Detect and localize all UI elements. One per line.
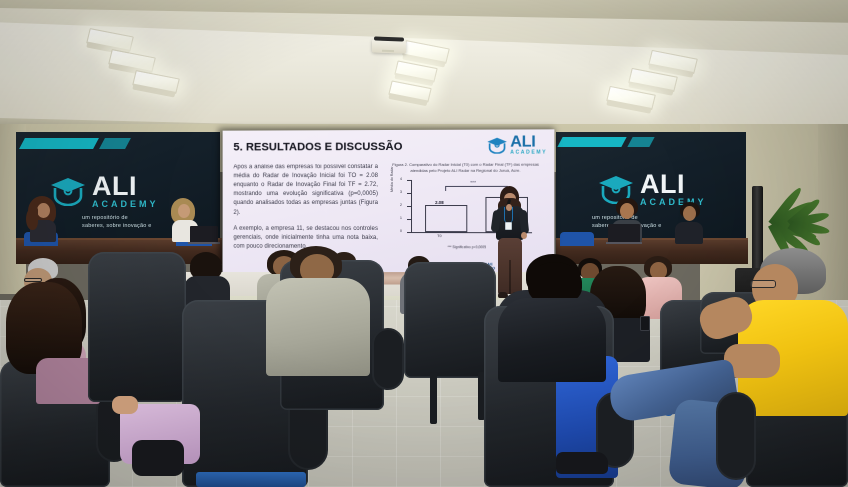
chart-significance-stars: *** bbox=[470, 180, 476, 185]
banner-accent-stripe-2 bbox=[99, 138, 131, 149]
figure-caption: Figura 2. Comparativo do Radar Inicial (… bbox=[391, 162, 540, 174]
laptop-left bbox=[190, 226, 218, 242]
chair-leg bbox=[430, 372, 437, 424]
slide-title: 5. RESULTADOS E DISCUSSÃO bbox=[233, 141, 402, 153]
slide-body-text: Após a análise das empresas foi possível… bbox=[233, 163, 378, 252]
banner-logo-secondary: ACADEMY bbox=[92, 200, 159, 208]
laptop-right bbox=[608, 224, 640, 242]
slide-logo-primary: ALI bbox=[510, 135, 547, 149]
name-badge bbox=[505, 222, 512, 230]
chart-bar-t0 bbox=[425, 205, 467, 232]
banner-accent-stripe-2 bbox=[627, 137, 654, 147]
chart-xtick-t0: T0 bbox=[437, 234, 441, 238]
panelist-left-1 bbox=[26, 196, 62, 242]
banner-accent-stripe bbox=[19, 138, 99, 149]
chair-row2-left[interactable] bbox=[88, 252, 186, 402]
chart-ytick-2: 2 bbox=[400, 204, 402, 207]
banner-tagline-line1: um repositório de bbox=[82, 215, 128, 221]
attendee-grey-polo-front bbox=[256, 246, 376, 376]
chair-seat bbox=[196, 472, 306, 487]
conference-room-photo: ALI ACADEMY um repositório de saberes, s… bbox=[0, 0, 848, 487]
slide-logo-secondary: ACADEMY bbox=[510, 149, 547, 155]
slide-paragraph-1: Após a análise das empresas foi possível… bbox=[233, 163, 378, 218]
chart-ytick-1: 1 bbox=[400, 217, 402, 220]
banner-accent-stripe bbox=[557, 137, 626, 147]
ceiling-projector bbox=[372, 39, 406, 53]
panelist-right-2 bbox=[672, 202, 708, 244]
chart-y-axis-label: Média do Radar bbox=[390, 166, 394, 192]
chart-y-axis bbox=[411, 180, 412, 232]
attendee-sneaker bbox=[556, 452, 608, 474]
head-table-chair bbox=[560, 232, 594, 246]
chart-ytick-3: 3 bbox=[400, 191, 402, 194]
handbag bbox=[132, 440, 184, 476]
banner-logo-primary: ALI bbox=[640, 169, 685, 199]
banner-logo-primary: ALI bbox=[92, 171, 137, 201]
slide-logo: ALI ACADEMY bbox=[485, 135, 547, 155]
chart-ytick-0: 0 bbox=[400, 230, 402, 233]
smartphone-icon[interactable] bbox=[640, 316, 650, 331]
chair-armrest bbox=[372, 328, 404, 390]
attendee-hand bbox=[112, 396, 138, 414]
chart-ytick-4: 4 bbox=[400, 178, 402, 181]
banner-tagline-line2: saberes, sobre inovação e bbox=[82, 223, 152, 229]
graduation-cap-icon bbox=[485, 137, 508, 154]
chart-bar-label-t0: 2.08 bbox=[435, 200, 444, 205]
chair-row2-right[interactable] bbox=[404, 262, 496, 378]
attendee-black-polo-front-body bbox=[498, 262, 608, 382]
banner-logo: ALI ACADEMY bbox=[48, 174, 159, 208]
chair-armrest bbox=[716, 392, 756, 480]
eyeglasses-icon bbox=[750, 280, 776, 288]
